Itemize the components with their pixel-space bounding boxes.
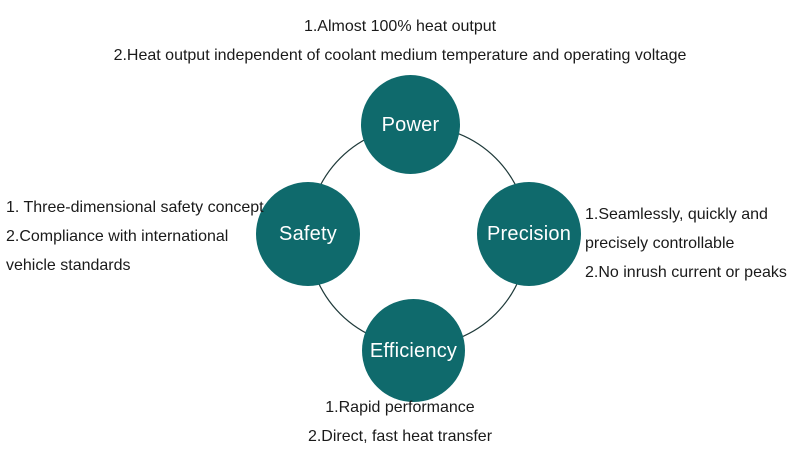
node-power[interactable]: Power [361, 75, 460, 174]
caption-precision-line-2: precisely controllable [585, 229, 787, 258]
diagram-canvas: Power Precision Efficiency Safety 1.Almo… [0, 0, 800, 461]
caption-precision: 1.Seamlessly, quickly and precisely cont… [585, 200, 787, 287]
node-efficiency-label: Efficiency [370, 341, 457, 361]
node-power-label: Power [382, 115, 440, 135]
node-precision[interactable]: Precision [477, 182, 581, 286]
caption-precision-line-3: 2.No inrush current or peaks [585, 258, 787, 287]
caption-power: 1.Almost 100% heat output 2.Heat output … [0, 12, 800, 70]
caption-safety-line-2: 2.Compliance with international [6, 222, 264, 251]
caption-efficiency-line-2: 2.Direct, fast heat transfer [0, 422, 800, 451]
caption-efficiency: 1.Rapid performance 2.Direct, fast heat … [0, 393, 800, 451]
caption-precision-line-1: 1.Seamlessly, quickly and [585, 200, 787, 229]
caption-efficiency-line-1: 1.Rapid performance [0, 393, 800, 422]
node-precision-label: Precision [487, 224, 571, 244]
caption-safety-line-3: vehicle standards [6, 251, 264, 280]
caption-safety-line-1: 1. Three-dimensional safety concept [6, 193, 264, 222]
caption-power-line-1: 1.Almost 100% heat output [0, 12, 800, 41]
node-safety-label: Safety [279, 224, 337, 244]
caption-power-line-2: 2.Heat output independent of coolant med… [0, 41, 800, 70]
caption-safety: 1. Three-dimensional safety concept 2.Co… [6, 193, 264, 280]
node-efficiency[interactable]: Efficiency [362, 299, 465, 402]
node-safety[interactable]: Safety [256, 182, 360, 286]
